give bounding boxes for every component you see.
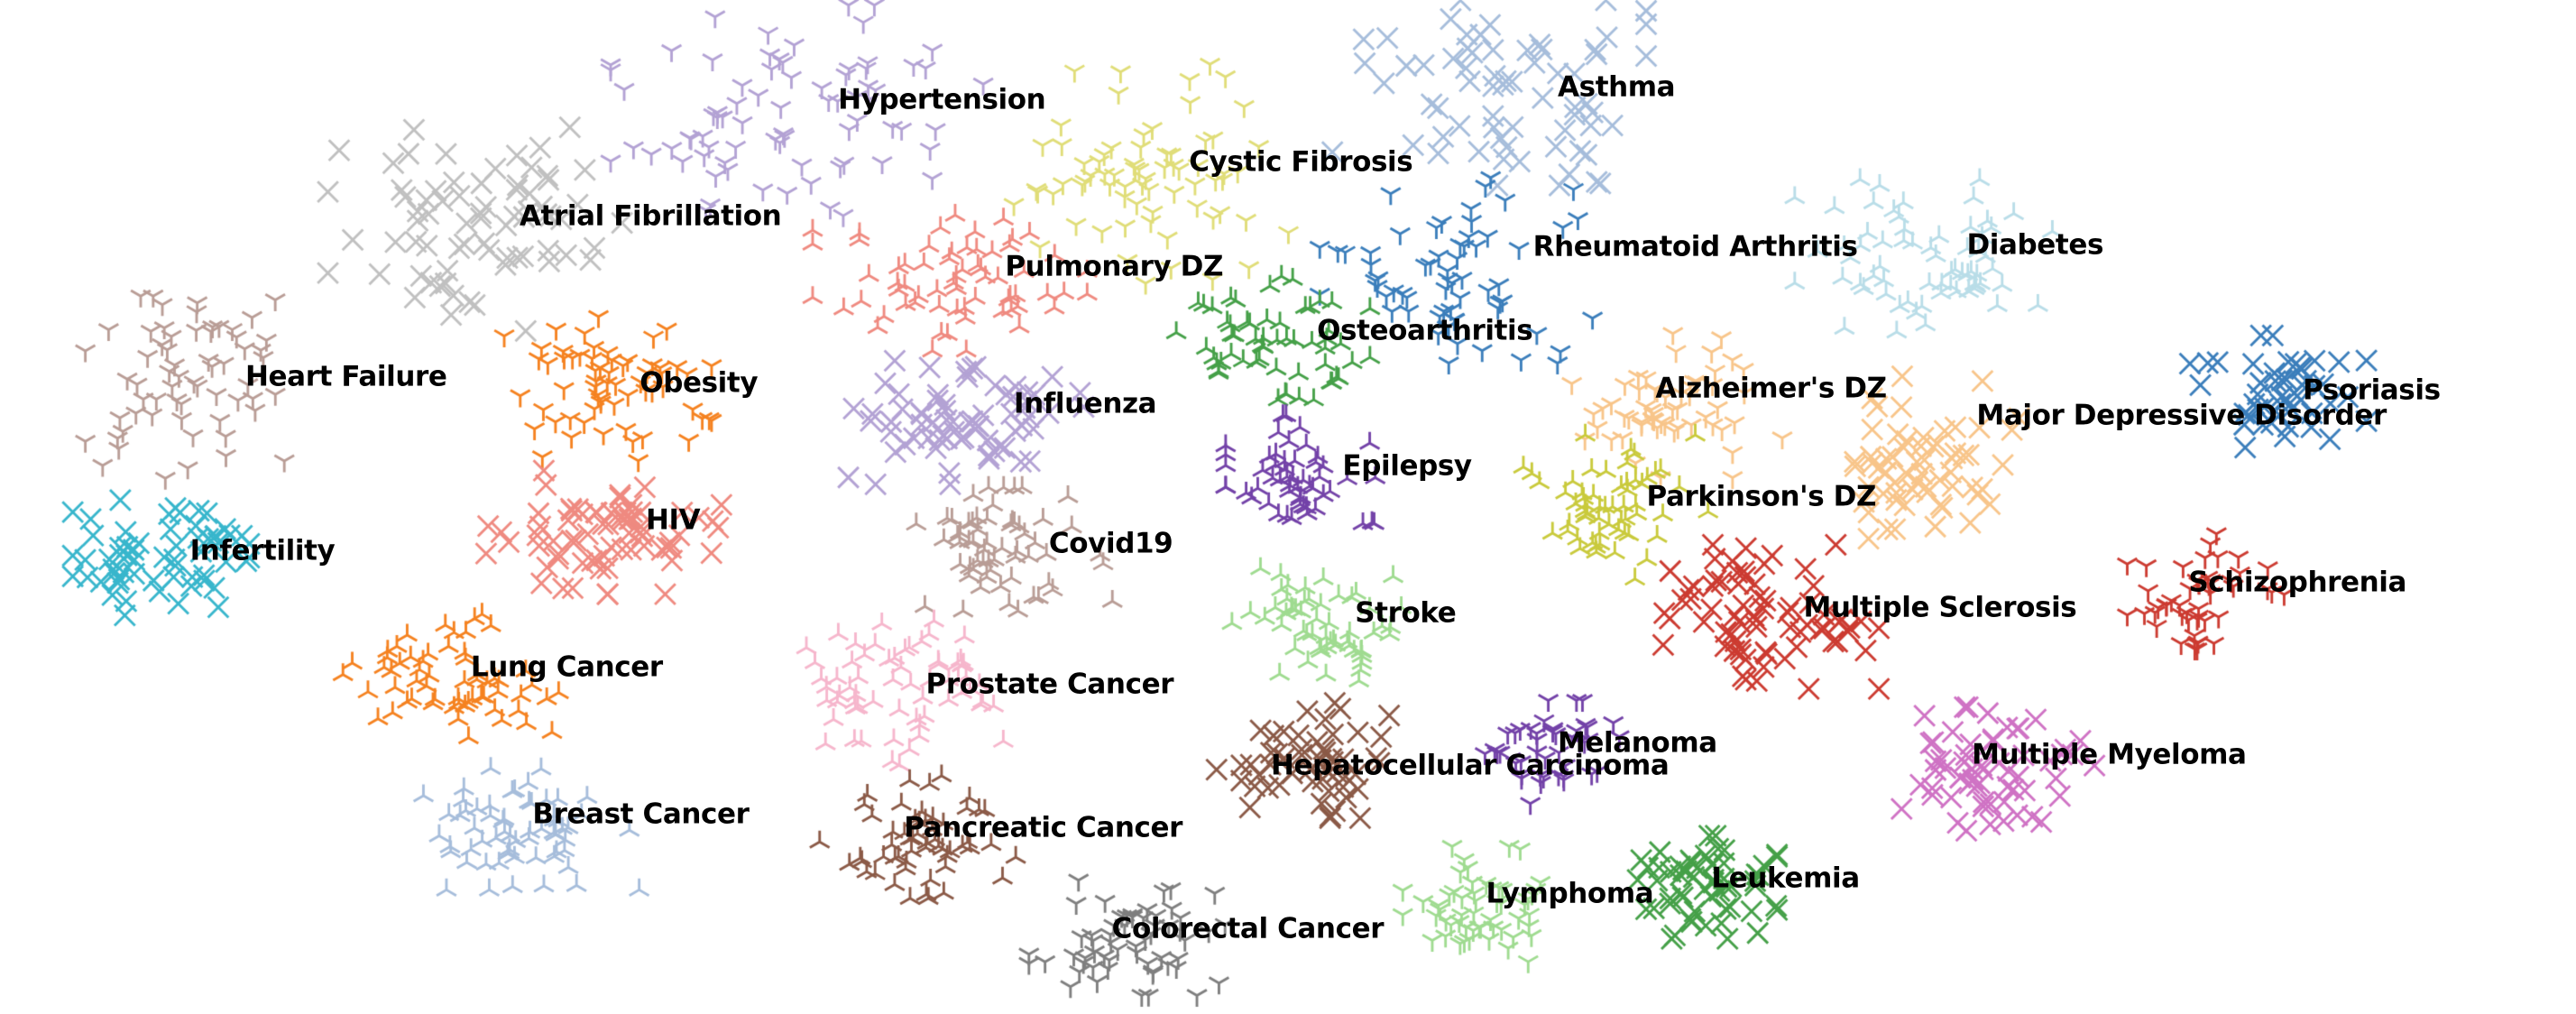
cluster-label-hypertension: Hypertension xyxy=(838,86,1045,114)
cluster-label-heart-failure: Heart Failure xyxy=(245,363,447,391)
cluster-label-alzheimers-dz: Alzheimer's DZ xyxy=(1655,374,1886,402)
cluster-label-hepatocellular-carcinoma: Hepatocellular Carcinoma xyxy=(1271,751,1670,779)
cluster-label-colorectal-cancer: Colorectal Cancer xyxy=(1112,916,1384,944)
cluster-label-schizophrenia: Schizophrenia xyxy=(2188,569,2406,597)
cluster-label-obesity: Obesity xyxy=(639,370,758,398)
cluster-label-cystic-fibrosis: Cystic Fibrosis xyxy=(1189,148,1412,176)
cluster-label-stroke: Stroke xyxy=(1355,600,1456,628)
cluster-label-pancreatic-cancer: Pancreatic Cancer xyxy=(904,814,1182,842)
cluster-label-epilepsy: Epilepsy xyxy=(1342,453,1471,481)
cluster-label-psoriasis: Psoriasis xyxy=(2303,376,2441,404)
cluster-label-parkinsons-dz: Parkinson's DZ xyxy=(1646,483,1876,511)
disease-embedding-scatter-figure: HypertensionAtrial FibrillationCystic Fi… xyxy=(0,0,2576,1014)
cluster-label-rheumatoid-arthritis: Rheumatoid Arthritis xyxy=(1533,233,1858,261)
cluster-label-infertility: Infertility xyxy=(190,537,336,565)
cluster-label-influenza: Influenza xyxy=(1014,390,1156,418)
cluster-label-multiple-sclerosis: Multiple Sclerosis xyxy=(1803,595,2076,622)
cluster-label-osteoarthritis: Osteoarthritis xyxy=(1317,318,1532,346)
cluster-label-lung-cancer: Lung Cancer xyxy=(471,653,663,681)
cluster-label-prostate-cancer: Prostate Cancer xyxy=(926,670,1174,698)
cluster-label-multiple-myeloma: Multiple Myeloma xyxy=(1972,742,2246,770)
cluster-label-hiv: HIV xyxy=(646,506,700,534)
cluster-label-asthma: Asthma xyxy=(1558,74,1675,102)
cluster-label-covid19: Covid19 xyxy=(1049,530,1173,558)
cluster-label-diabetes: Diabetes xyxy=(1966,231,2103,259)
cluster-label-breast-cancer: Breast Cancer xyxy=(532,800,749,828)
cluster-label-leukemia: Leukemia xyxy=(1711,865,1859,893)
cluster-label-atrial-fibrillation: Atrial Fibrillation xyxy=(520,202,781,230)
cluster-label-lymphoma: Lymphoma xyxy=(1486,880,1654,908)
cluster-label-pulmonary-dz: Pulmonary DZ xyxy=(1005,253,1223,281)
